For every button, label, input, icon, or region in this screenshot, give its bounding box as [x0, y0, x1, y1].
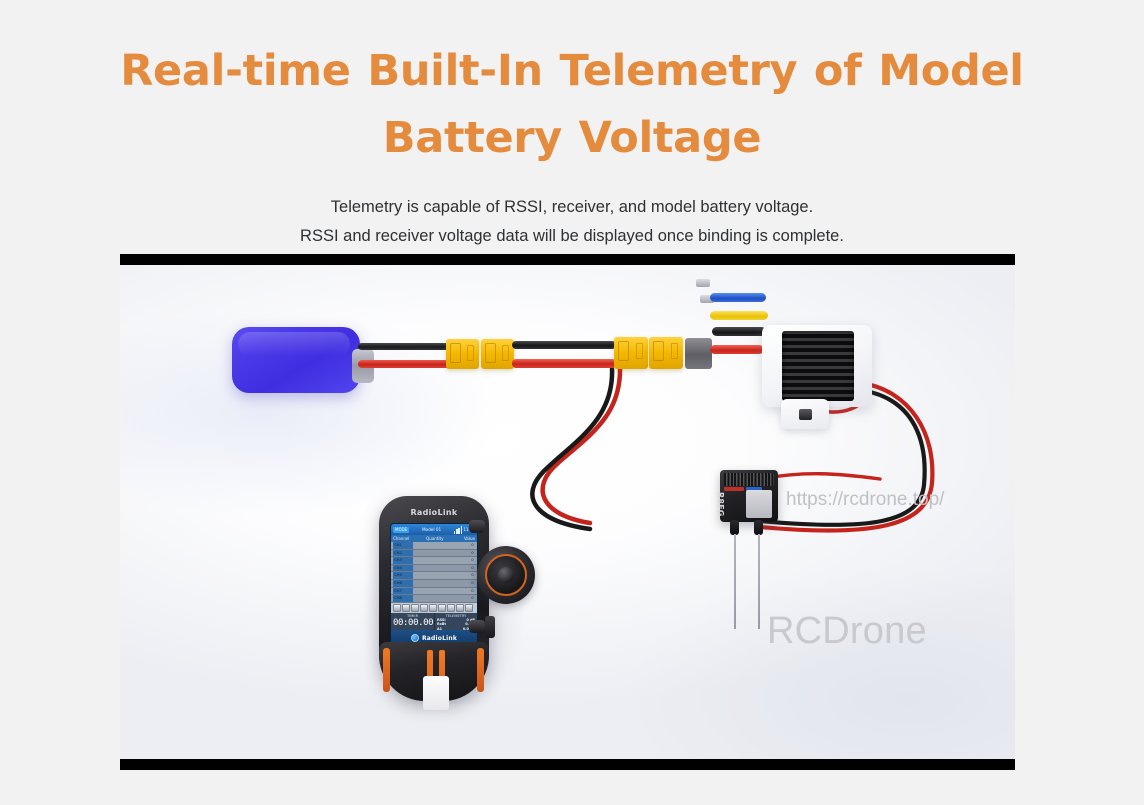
- toolbar-icon-6[interactable]: [438, 604, 446, 612]
- table-row[interactable]: CH5 0: [391, 572, 477, 580]
- battery-negative-wire: [358, 343, 450, 350]
- subtitle-block: Telemetry is capable of RSSI, receiver, …: [0, 193, 1144, 250]
- row-value: 0: [457, 588, 473, 595]
- esc-heatsink: [782, 331, 854, 401]
- esc-module: [750, 317, 890, 437]
- row-bar: [415, 572, 458, 579]
- row-bar: [415, 557, 458, 564]
- screen-model-name: Model 01: [422, 527, 441, 532]
- table-row[interactable]: CH2 0: [391, 550, 477, 558]
- toolbar-icon-9[interactable]: [465, 604, 473, 612]
- table-row[interactable]: CH3 0: [391, 557, 477, 565]
- screen-status-bar: MODE Model 01 11.1V: [391, 524, 477, 535]
- battery-body: [232, 327, 360, 393]
- product-photo: R8FG RadioLink MODE Model 01: [120, 254, 1015, 770]
- row-channel: CH2: [393, 550, 413, 557]
- receiver-pin-header: [724, 473, 774, 486]
- toolbar-icon-8[interactable]: [456, 604, 464, 612]
- row-value: 0: [457, 572, 473, 579]
- row-channel: CH8: [393, 595, 413, 602]
- timer-value: 00:00.00: [393, 618, 432, 629]
- toolbar-icon-1[interactable]: [393, 604, 401, 612]
- esc-mount-tab: [781, 399, 829, 429]
- receiver-model-label: R8FG: [716, 492, 725, 517]
- row-bar: [415, 588, 458, 595]
- xt60-connector-male-2: [614, 337, 648, 369]
- row-channel: CH7: [393, 588, 413, 595]
- row-channel: CH4: [393, 565, 413, 572]
- table-row[interactable]: CH4 0: [391, 565, 477, 573]
- esc-phase-wire-blue: [710, 293, 766, 302]
- row-value: 0: [457, 565, 473, 572]
- signal-bars-icon: [454, 526, 462, 534]
- row-bar: [415, 550, 458, 557]
- row-value: 0: [457, 542, 473, 549]
- xt60-connector-female-2: [649, 337, 683, 369]
- screen-brand-text: RadioLink: [422, 635, 457, 642]
- antispark-block: [685, 338, 712, 369]
- transmitter-screen[interactable]: MODE Model 01 11.1V Channel Quantity Val…: [390, 523, 478, 647]
- table-row[interactable]: CH8 0: [391, 595, 477, 603]
- toolbar-icon-2[interactable]: [402, 604, 410, 612]
- antenna-left: [734, 534, 736, 629]
- antenna-base-left: [730, 520, 739, 535]
- row-bar: [415, 580, 458, 587]
- mid-negative-wire: [512, 341, 616, 349]
- col-quantity: Quantity: [413, 535, 457, 542]
- mid-positive-wire: [512, 359, 616, 368]
- grip-accent-left: [383, 648, 390, 692]
- screen-channel-table-header: Channel Quantity Value: [391, 535, 477, 542]
- screen-mode-chip[interactable]: MODE: [393, 527, 409, 533]
- gimbal-stick[interactable]: [498, 567, 514, 583]
- toolbar-icon-3[interactable]: [411, 604, 419, 612]
- photo-stage: R8FG RadioLink MODE Model 01: [120, 265, 1015, 759]
- row-value: 0: [457, 595, 473, 602]
- row-channel: CH1: [393, 542, 413, 549]
- toolbar-icon-5[interactable]: [429, 604, 437, 612]
- table-row[interactable]: CH1 0: [391, 542, 477, 550]
- bullet-connector-blue: [696, 279, 710, 287]
- table-row[interactable]: CH6 0: [391, 580, 477, 588]
- xt60-connector-female-1: [481, 339, 514, 369]
- page-header: Real-time Built-In Telemetry of Model Ba…: [0, 0, 1144, 250]
- rc-transmitter: RadioLink MODE Model 01 11.1V Channel Qu…: [365, 490, 525, 710]
- page-title: Real-time Built-In Telemetry of Model Ba…: [27, 38, 1117, 171]
- radiolink-logo-icon: [411, 634, 419, 642]
- antenna-base-right: [754, 520, 763, 535]
- row-value: 0: [457, 557, 473, 564]
- row-value: 0: [457, 580, 473, 587]
- rc-receiver: R8FG: [720, 470, 792, 540]
- antenna-right: [758, 534, 760, 629]
- lipo-battery: [232, 327, 364, 405]
- trim-knob-bottom[interactable]: [469, 620, 485, 633]
- transmitter-brand-label: RadioLink: [379, 508, 489, 517]
- col-value: Value: [457, 535, 475, 542]
- row-bar: [415, 565, 458, 572]
- receiver-body: R8FG: [720, 470, 778, 522]
- subtitle-line-2: RSSI and receiver voltage data will be d…: [0, 222, 1144, 250]
- battery-positive-wire: [358, 360, 450, 368]
- screen-channel-rows: CH1 0 CH2 0 CH3 0: [391, 542, 477, 603]
- subtitle-line-1: Telemetry is capable of RSSI, receiver, …: [0, 193, 1144, 221]
- photo-bottom-bar: [120, 759, 1015, 770]
- row-bar: [415, 595, 458, 602]
- side-switch-tab[interactable]: [485, 616, 495, 638]
- row-channel: CH5: [393, 572, 413, 579]
- receiver-label-sticker: [746, 490, 772, 518]
- screen-icon-toolbar[interactable]: [391, 603, 477, 613]
- col-channel: Channel: [393, 535, 413, 542]
- row-channel: CH3: [393, 557, 413, 564]
- row-value: 0: [457, 550, 473, 557]
- row-bar: [415, 542, 458, 549]
- trim-knob-top[interactable]: [469, 520, 485, 533]
- battery-compartment-cover: [423, 676, 449, 710]
- receiver-red-stripe: [724, 487, 744, 491]
- xt60-connector-male-1: [446, 339, 479, 369]
- row-channel: CH6: [393, 580, 413, 587]
- toolbar-icon-7[interactable]: [447, 604, 455, 612]
- esc-program-button: [799, 409, 812, 420]
- table-row[interactable]: CH7 0: [391, 588, 477, 596]
- grip-accent-right: [477, 648, 484, 692]
- toolbar-icon-4[interactable]: [420, 604, 428, 612]
- photo-top-bar: [120, 254, 1015, 265]
